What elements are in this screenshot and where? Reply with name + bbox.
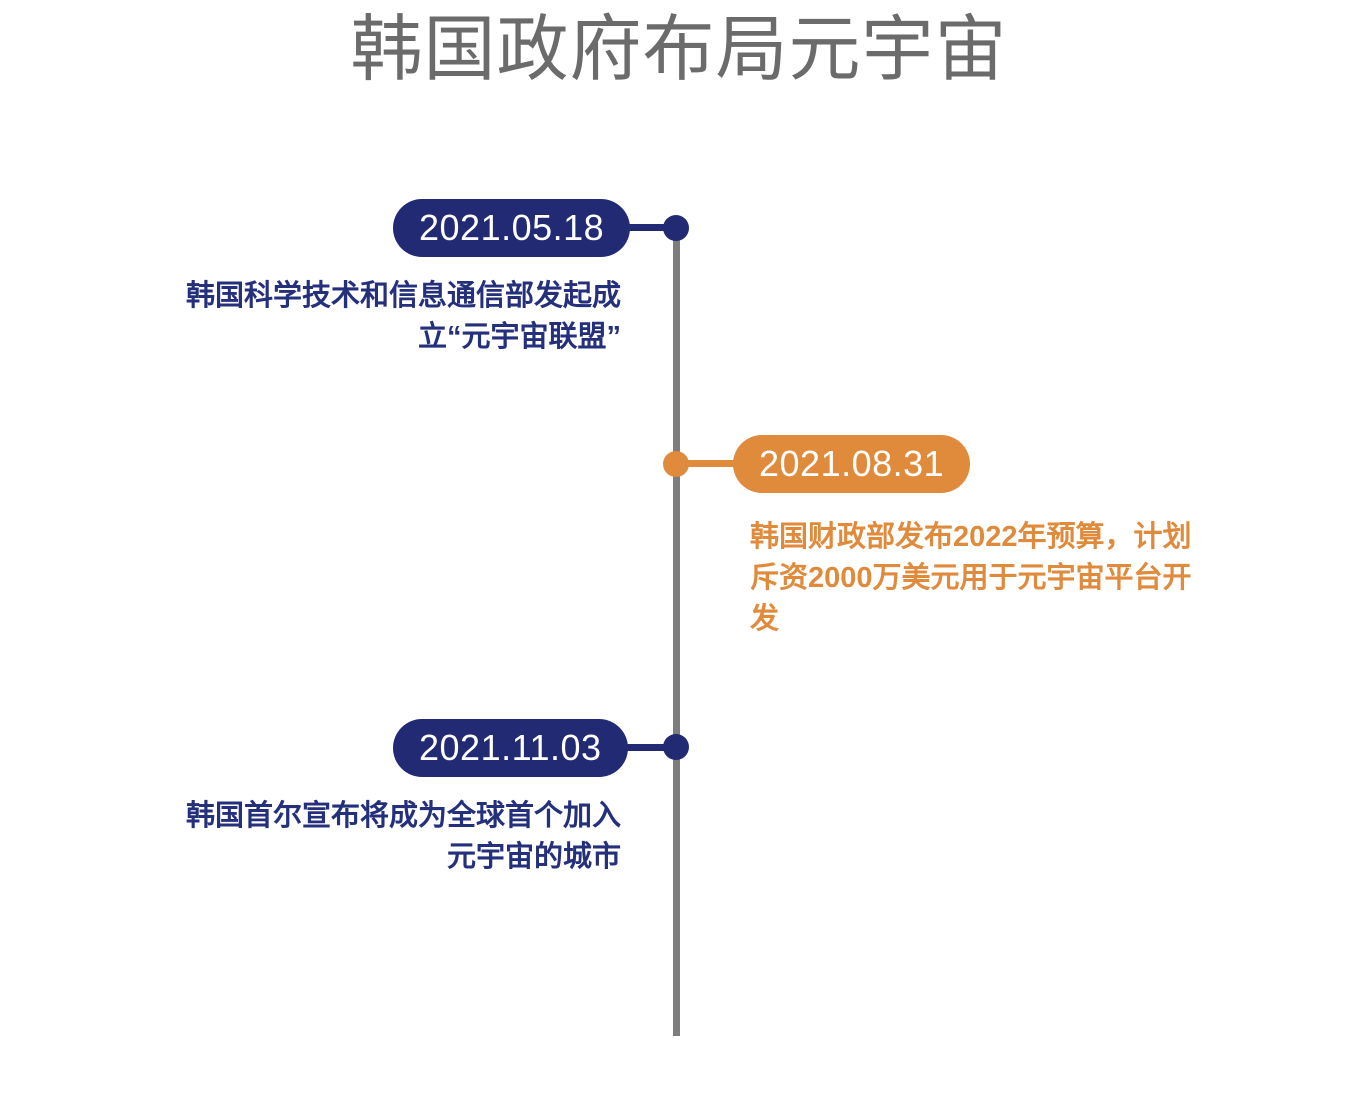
event-description-2: 韩国首尔宣布将成为全球首个加入 元宇宙的城市	[96, 796, 621, 878]
timeline-node-dot-0	[663, 215, 689, 241]
infographic-canvas: 韩国政府布局元宇宙 2021.05.18 韩国科学技术和信息通信部发起成 立“元…	[0, 0, 1358, 1106]
date-badge-2[interactable]: 2021.11.03	[393, 719, 628, 777]
event-description-1: 韩国财政部发布2022年预算，计划 斥资2000万美元用于元宇宙平台开 发	[750, 517, 1262, 641]
date-badge-0[interactable]: 2021.05.18	[393, 199, 630, 257]
timeline-node-dot-2	[663, 734, 689, 760]
timeline-spine	[673, 228, 680, 1036]
page-title: 韩国政府布局元宇宙	[0, 14, 1358, 86]
event-description-0: 韩国科学技术和信息通信部发起成 立“元宇宙联盟”	[96, 276, 621, 358]
date-badge-1[interactable]: 2021.08.31	[733, 435, 970, 493]
